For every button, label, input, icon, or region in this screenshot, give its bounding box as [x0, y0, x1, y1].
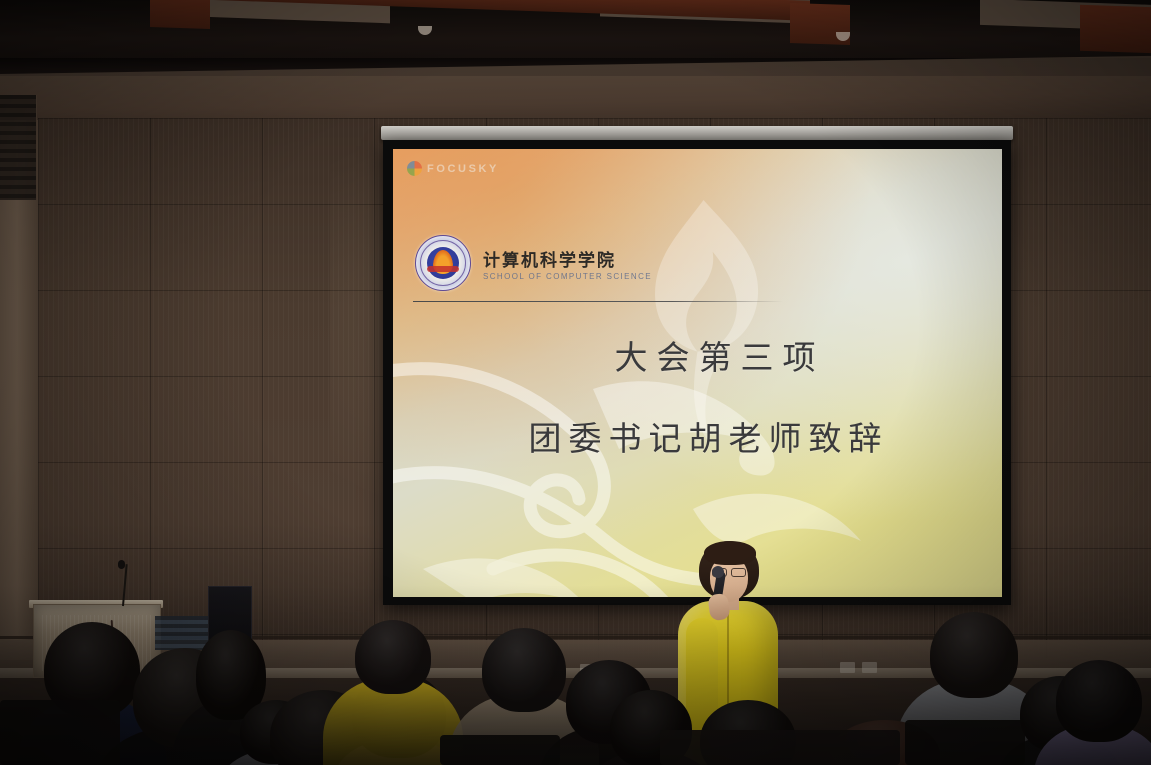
left-column	[0, 120, 38, 660]
audience-member-head	[482, 628, 566, 712]
projector-screen-housing	[381, 126, 1013, 140]
school-name-en: SCHOOL OF COMPUTER SCIENCE	[483, 272, 652, 281]
conference-hall-photo: FOCUSKY 计算机科学学院 SCHOOL OF COMPUTER SCIEN…	[0, 0, 1151, 765]
projection-screen: FOCUSKY 计算机科学学院 SCHOOL OF COMPUTER SCIEN…	[393, 149, 1002, 597]
chair	[660, 730, 900, 765]
wall-outlet-icon	[840, 662, 855, 673]
focusky-label: FOCUSKY	[427, 163, 499, 175]
air-vent-grille	[0, 95, 37, 200]
chair	[905, 720, 1025, 765]
crest-inner-disc	[427, 247, 459, 279]
audience-member-head	[930, 612, 1018, 698]
slide-title-line1: 大会第三项	[393, 331, 1002, 379]
chair	[440, 735, 560, 765]
slide-title-line2: 团委书记胡老师致辞	[393, 412, 1002, 460]
school-name-block: 计算机科学学院 SCHOOL OF COMPUTER SCIENCE	[483, 246, 652, 281]
gooseneck-microphone-head	[118, 560, 125, 569]
crest-banner	[427, 266, 459, 272]
wall-outlet-icon	[862, 662, 877, 673]
slide-header: 计算机科学学院 SCHOOL OF COMPUTER SCIENCE	[415, 235, 652, 291]
audience-member-head	[355, 620, 431, 694]
focusky-logo-icon	[407, 161, 422, 176]
ceiling-beam	[1080, 5, 1151, 54]
school-crest-icon	[415, 235, 471, 291]
focusky-watermark: FOCUSKY	[407, 161, 499, 176]
audience-member-head	[1056, 660, 1142, 742]
school-name-cn: 计算机科学学院	[483, 246, 652, 271]
slide-divider	[413, 301, 783, 302]
presenter-hair-fringe	[704, 541, 756, 565]
chair	[0, 700, 120, 765]
ceiling-beam	[150, 0, 210, 29]
handheld-microphone-head	[712, 566, 724, 578]
